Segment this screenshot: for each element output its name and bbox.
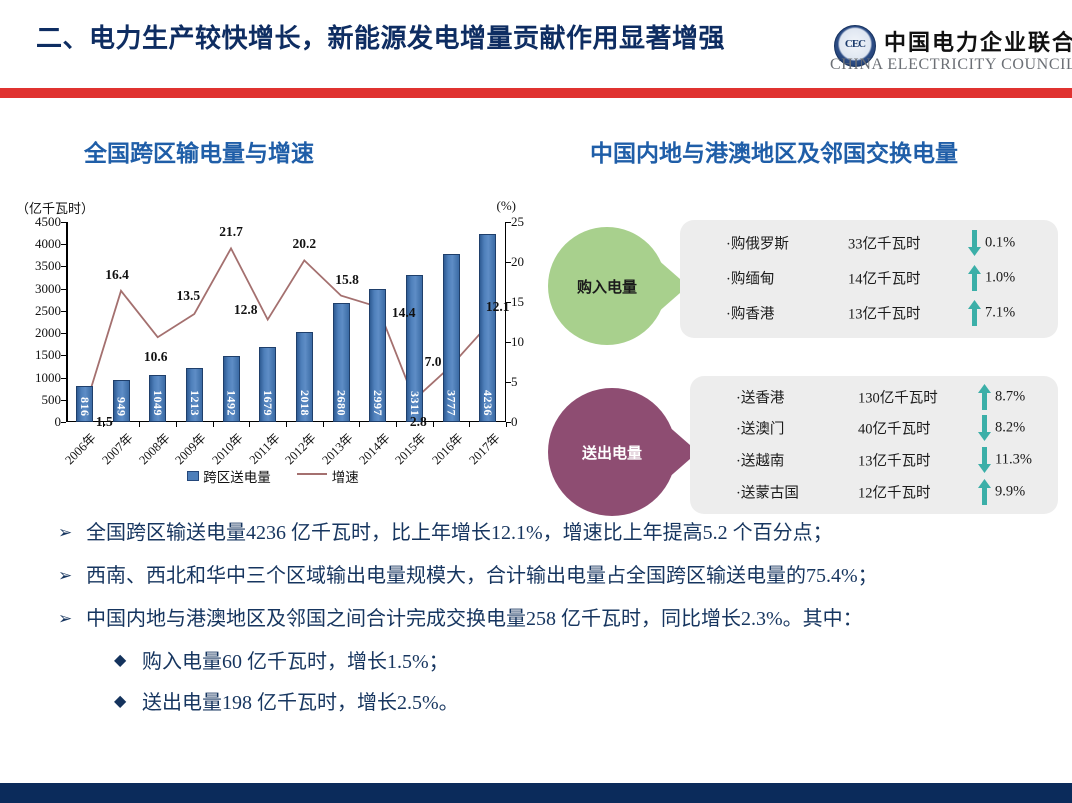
chart-tick-mark — [213, 422, 214, 427]
chart-bar-value-label: 2018 — [297, 390, 312, 416]
chart-tick-mark — [61, 266, 66, 267]
flow-row-value: 130亿千瓦时 — [858, 386, 938, 407]
chart-line-value-label: 10.6 — [144, 349, 168, 365]
chart-bar-value-label: 1492 — [224, 390, 239, 416]
bullet-level2-text: 购入电量60 亿千瓦时，增长1.5%； — [142, 651, 449, 673]
chart-tick-mark — [249, 422, 250, 427]
chart-line-value-label: 21.7 — [219, 224, 243, 240]
chart-tick-mark — [61, 422, 66, 423]
import-electricity-flow: 购入电量·购俄罗斯33亿千瓦时0.1%·购缅甸14亿千瓦时1.0%·购香港13亿… — [548, 212, 1064, 360]
flow-row-name: ·送香港 — [736, 386, 784, 407]
bullet-level1: ➢ 西南、西北和华中三个区域输出电量规模大，合计输出电量占全国跨区输送电量的75… — [46, 565, 1056, 588]
bullet-level2: ◆ 送出电量198 亿千瓦时，增长2.5%。 — [46, 692, 1056, 715]
bullet-level1: ➢ 全国跨区输送电量4236 亿千瓦时，比上年增长12.1%，增速比上年提高5.… — [46, 522, 1056, 545]
chart-legend: 跨区送电量增速 — [8, 466, 538, 486]
arrow-up-icon — [968, 265, 981, 291]
flow-circle: 送出电量 — [548, 388, 676, 516]
chart-y-tick-right: 0 — [511, 414, 518, 430]
chart-tick-mark — [506, 342, 511, 343]
flow-row-value: 40亿千瓦时 — [858, 418, 931, 439]
flow-circle-label: 购入电量 — [577, 276, 637, 297]
logo-chinese-name: 中国电力企业联合会 — [884, 25, 1072, 57]
chart-line-value-label: 16.4 — [105, 267, 129, 283]
chart-tick-mark — [396, 422, 397, 427]
chart-tick-mark — [469, 422, 470, 427]
chart-y-tick-left: 1000 — [35, 370, 61, 386]
bullet-level1-text: 中国内地与港澳地区及邻国之间合计完成交换电量258 亿千瓦时，同比增长2.3%。… — [86, 608, 863, 630]
chart-bar: 4236 — [479, 234, 496, 422]
organization-logo: 中国电力企业联合会 CHINA ELECTRICITY COUNCIL — [826, 22, 1064, 84]
flow-circle-label: 送出电量 — [582, 442, 642, 463]
right-section-heading: 中国内地与港澳地区及邻国交换电量 — [590, 134, 958, 168]
logo-english-name: CHINA ELECTRICITY COUNCIL — [830, 56, 1072, 74]
flow-row-percent: 9.9% — [995, 483, 1025, 500]
chart-tick-mark — [61, 400, 66, 401]
flow-row-value: 33亿千瓦时 — [848, 232, 921, 253]
chart-bar: 816 — [76, 386, 93, 422]
chart-bar-value-label: 2680 — [334, 390, 349, 416]
chart-line-value-label: 15.8 — [335, 272, 359, 288]
flow-row-value: 14亿千瓦时 — [848, 268, 921, 289]
flow-row-percent: 8.7% — [995, 388, 1025, 405]
chart-bar: 1679 — [259, 347, 276, 422]
chart-bar: 3311 — [406, 275, 423, 422]
chart-y-tick-left: 500 — [42, 392, 62, 408]
flow-detail-box: ·送香港130亿千瓦时8.7%·送澳门40亿千瓦时8.2%·送越南13亿千瓦时1… — [690, 376, 1058, 514]
arrow-down-icon — [978, 447, 991, 473]
flow-row-percent: 7.1% — [985, 305, 1015, 322]
chart-tick-mark — [61, 378, 66, 379]
chart-tick-mark — [61, 355, 66, 356]
slide-root: 二、电力生产较快增长，新能源发电增量贡献作用显著增强 中国电力企业联合会 CHI… — [0, 0, 1072, 803]
flow-row-value: 12亿千瓦时 — [858, 481, 931, 502]
chart-bar-value-label: 3311 — [407, 391, 422, 416]
chart-y-tick-left: 2000 — [35, 325, 61, 341]
chart-bar: 3777 — [443, 254, 460, 422]
chart-y-tick-left: 4500 — [35, 214, 61, 230]
summary-bullets: ➢ 全国跨区输送电量4236 亿千瓦时，比上年增长12.1%，增速比上年提高5.… — [46, 522, 1056, 733]
diamond-marker-icon: ◆ — [114, 693, 126, 711]
legend-bar-label: 跨区送电量 — [203, 466, 271, 486]
chart-y-tick-right: 25 — [511, 214, 524, 230]
bullet-marker-icon: ➢ — [58, 609, 72, 629]
arrow-up-icon — [978, 384, 991, 410]
chart-tick-mark — [61, 289, 66, 290]
chart-tick-mark — [359, 422, 360, 427]
chart-tick-mark — [506, 222, 511, 223]
chart-tick-mark — [506, 262, 511, 263]
chart-y-tick-left: 1500 — [35, 347, 61, 363]
diamond-marker-icon: ◆ — [114, 652, 126, 670]
chart-bar-value-label: 2997 — [370, 390, 385, 416]
bullet-level1: ➢ 中国内地与港澳地区及邻国之间合计完成交换电量258 亿千瓦时，同比增长2.3… — [46, 608, 1056, 631]
chart-bar-value-label: 1679 — [260, 390, 275, 416]
chart-y-tick-right: 5 — [511, 374, 518, 390]
chart-tick-mark — [323, 422, 324, 427]
arrow-up-icon — [968, 300, 981, 326]
chart-y-tick-right: 20 — [511, 254, 524, 270]
chart-tick-mark — [61, 333, 66, 334]
chart-tick-mark — [61, 244, 66, 245]
export-electricity-flow: 送出电量·送香港130亿千瓦时8.7%·送澳门40亿千瓦时8.2%·送越南13亿… — [548, 368, 1064, 536]
bullet-level1-text: 全国跨区输送电量4236 亿千瓦时，比上年增长12.1%，增速比上年提高5.2 … — [86, 522, 833, 544]
chart-plot-area: 0500100015002000250030003500400045000510… — [66, 222, 506, 422]
chart-bar: 2018 — [296, 332, 313, 422]
bullet-level1-text: 西南、西北和华中三个区域输出电量规模大，合计输出电量占全国跨区输送电量的75.4… — [86, 565, 878, 587]
chart-line-value-label: 7.0 — [425, 354, 442, 370]
chart-bar: 1049 — [149, 375, 166, 422]
chart-line-value-label: 2.8 — [410, 414, 427, 430]
chart-line-value-label: 1.5 — [96, 414, 113, 430]
chart-y-tick-left: 2500 — [35, 303, 61, 319]
chart-y-tick-right: 10 — [511, 334, 524, 350]
chart-tick-mark — [286, 422, 287, 427]
flow-row-name: ·购香港 — [726, 303, 774, 324]
flow-row-name: ·购俄罗斯 — [726, 232, 789, 253]
chart-bar-value-label: 816 — [77, 397, 92, 417]
chart-line-value-label: 20.2 — [293, 236, 317, 252]
cross-region-transmission-chart: （亿千瓦时） (%) 05001000150020002500300035004… — [8, 196, 538, 496]
page-title: 二、电力生产较快增长，新能源发电增量贡献作用显著增强 — [36, 18, 725, 55]
flow-row-name: ·送越南 — [736, 450, 784, 471]
chart-bar-value-label: 3777 — [444, 390, 459, 416]
chart-tick-mark — [433, 422, 434, 427]
chart-bar-value-label: 1213 — [187, 390, 202, 416]
chart-bar: 2680 — [333, 303, 350, 422]
chart-right-axis-unit: (%) — [497, 198, 517, 214]
flow-row-name: ·购缅甸 — [726, 268, 774, 289]
chart-bar-value-label: 1049 — [150, 390, 165, 416]
bullet-level2-text: 送出电量198 亿千瓦时，增长2.5%。 — [142, 692, 459, 714]
legend-line-swatch — [297, 473, 327, 475]
flow-row-percent: 0.1% — [985, 234, 1015, 251]
chart-y-tick-left: 4000 — [35, 236, 61, 252]
chart-line-value-label: 12.1 — [486, 299, 510, 315]
chart-tick-mark — [506, 382, 511, 383]
chart-line-value-label: 12.8 — [234, 302, 258, 318]
chart-tick-mark — [176, 422, 177, 427]
flow-detail-box: ·购俄罗斯33亿千瓦时0.1%·购缅甸14亿千瓦时1.0%·购香港13亿千瓦时7… — [680, 220, 1058, 338]
header-red-divider — [0, 88, 1072, 98]
chart-y-tick-left: 3500 — [35, 258, 61, 274]
arrow-down-icon — [968, 230, 981, 256]
chart-tick-mark — [506, 422, 507, 427]
legend-bar-swatch — [187, 471, 199, 481]
chart-tick-mark — [61, 222, 66, 223]
slide-header: 二、电力生产较快增长，新能源发电增量贡献作用显著增强 中国电力企业联合会 CHI… — [0, 0, 1072, 88]
flow-circle: 购入电量 — [548, 227, 666, 345]
bullet-marker-icon: ➢ — [58, 566, 72, 586]
chart-y-tick-left: 3000 — [35, 281, 61, 297]
chart-y-tick-right: 15 — [511, 294, 524, 310]
chart-bar-value-label: 4236 — [480, 390, 495, 416]
bullet-marker-icon: ➢ — [58, 523, 72, 543]
legend-line-label: 增速 — [332, 466, 359, 486]
chart-bar: 949 — [113, 380, 130, 422]
flow-row-value: 13亿千瓦时 — [848, 303, 921, 324]
arrow-down-icon — [978, 415, 991, 441]
chart-line-value-label: 14.4 — [392, 305, 416, 321]
left-section-heading: 全国跨区输电量与增速 — [84, 134, 314, 168]
chart-tick-mark — [61, 311, 66, 312]
chart-bar: 1492 — [223, 356, 240, 422]
flow-row-percent: 1.0% — [985, 270, 1015, 287]
arrow-up-icon — [978, 479, 991, 505]
growth-rate-line — [66, 222, 506, 422]
growth-rate-polyline — [84, 248, 487, 410]
flow-row-name: ·送蒙古国 — [736, 481, 799, 502]
chart-bar-value-label: 949 — [114, 397, 129, 417]
footer-bar — [0, 783, 1072, 803]
flow-row-percent: 11.3% — [995, 452, 1032, 469]
chart-tick-mark — [139, 422, 140, 427]
bullet-level2: ◆ 购入电量60 亿千瓦时，增长1.5%； — [46, 651, 1056, 674]
chart-line-value-label: 13.5 — [177, 288, 201, 304]
chart-bar: 1213 — [186, 368, 203, 422]
flow-row-name: ·送澳门 — [736, 418, 784, 439]
flow-row-value: 13亿千瓦时 — [858, 450, 931, 471]
chart-bar: 2997 — [369, 289, 386, 422]
flow-row-percent: 8.2% — [995, 420, 1025, 437]
